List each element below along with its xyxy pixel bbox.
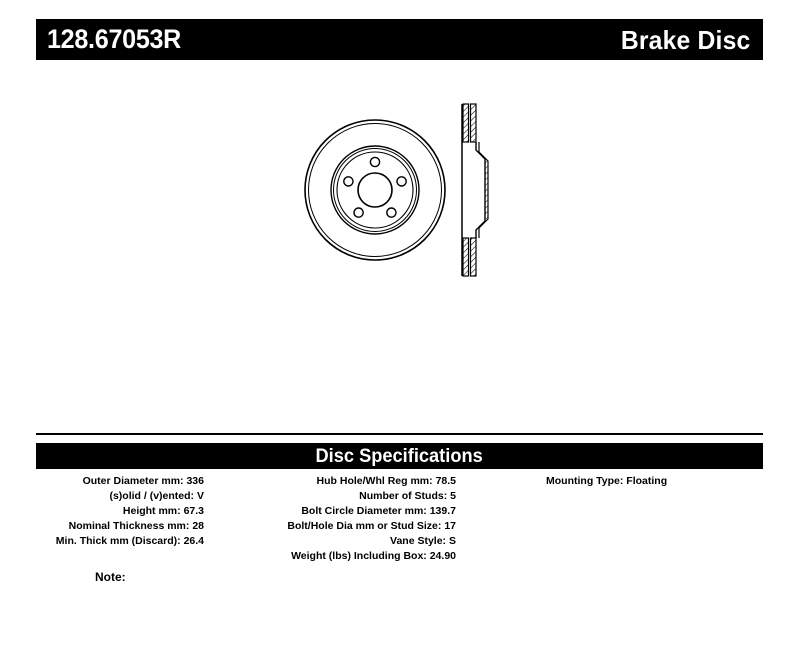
note-block: Note: [95,570,432,584]
spec-value: 67.3 [184,505,204,517]
spec-value: 78.5 [436,475,456,487]
spec-label: Weight (lbs) Including Box: [291,550,427,562]
section-divider [36,433,763,435]
spec-label: (s)olid / (v)ented: [109,490,194,502]
spec-value: 17 [444,520,456,532]
spec-label: Number of Studs: [359,490,447,502]
spec-row: Hub Hole/Whl Reg mm: 78.5 [232,474,456,489]
spec-value: 28 [192,520,204,532]
spec-row: Nominal Thickness mm: 28 [36,519,204,534]
technical-drawing [270,95,570,295]
spec-column-middle: Hub Hole/Whl Reg mm: 78.5 Number of Stud… [232,474,456,564]
spec-label: Bolt Circle Diameter mm: [301,505,426,517]
spec-label: Vane Style: [390,535,446,547]
spec-row: Number of Studs: 5 [232,489,456,504]
note-label: Note: [95,570,126,584]
spec-title: Disc Specifications [316,447,483,466]
product-type: Brake Disc [620,27,750,53]
spec-label: Nominal Thickness mm: [69,520,190,532]
brake-rotor-cross-section-view [462,104,488,276]
spec-value: 139.7 [430,505,456,517]
header-bar: 128.67053R Brake Disc [36,19,763,60]
spec-row: Bolt Circle Diameter mm: 139.7 [232,504,456,519]
spec-title-bar: Disc Specifications [36,443,763,469]
spec-label: Height mm: [123,505,181,517]
spec-row: (s)olid / (v)ented: V [36,489,204,504]
spec-value: 336 [186,475,204,487]
spec-label: Hub Hole/Whl Reg mm: [317,475,433,487]
spec-value: 24.90 [430,550,456,562]
spec-row: Mounting Type: Floating [546,474,763,489]
spec-value: 26.4 [184,535,204,547]
spec-row: Vane Style: S [232,534,456,549]
spec-row: Bolt/Hole Dia mm or Stud Size: 17 [232,519,456,534]
spec-label: Mounting Type: [546,475,623,487]
spec-label: Outer Diameter mm: [83,475,184,487]
spec-row: Weight (lbs) Including Box: 24.90 [232,549,456,564]
spec-column-right: Mounting Type: Floating [546,474,763,489]
spec-value: S [449,535,456,547]
spec-row: Min. Thick mm (Discard): 26.4 [36,534,204,549]
spec-column-left: Outer Diameter mm: 336 (s)olid / (v)ente… [36,474,204,549]
brake-rotor-front-view [305,120,445,260]
spec-value: Floating [626,475,667,487]
spec-label: Bolt/Hole Dia mm or Stud Size: [287,520,441,532]
spec-row: Outer Diameter mm: 336 [36,474,204,489]
part-number: 128.67053R [47,26,181,53]
spec-value: 5 [450,490,456,502]
spec-label: Min. Thick mm (Discard): [56,535,181,547]
spec-value: V [197,490,204,502]
spec-row: Height mm: 67.3 [36,504,204,519]
spec-sheet-page: 128.67053R Brake Disc [0,0,800,655]
